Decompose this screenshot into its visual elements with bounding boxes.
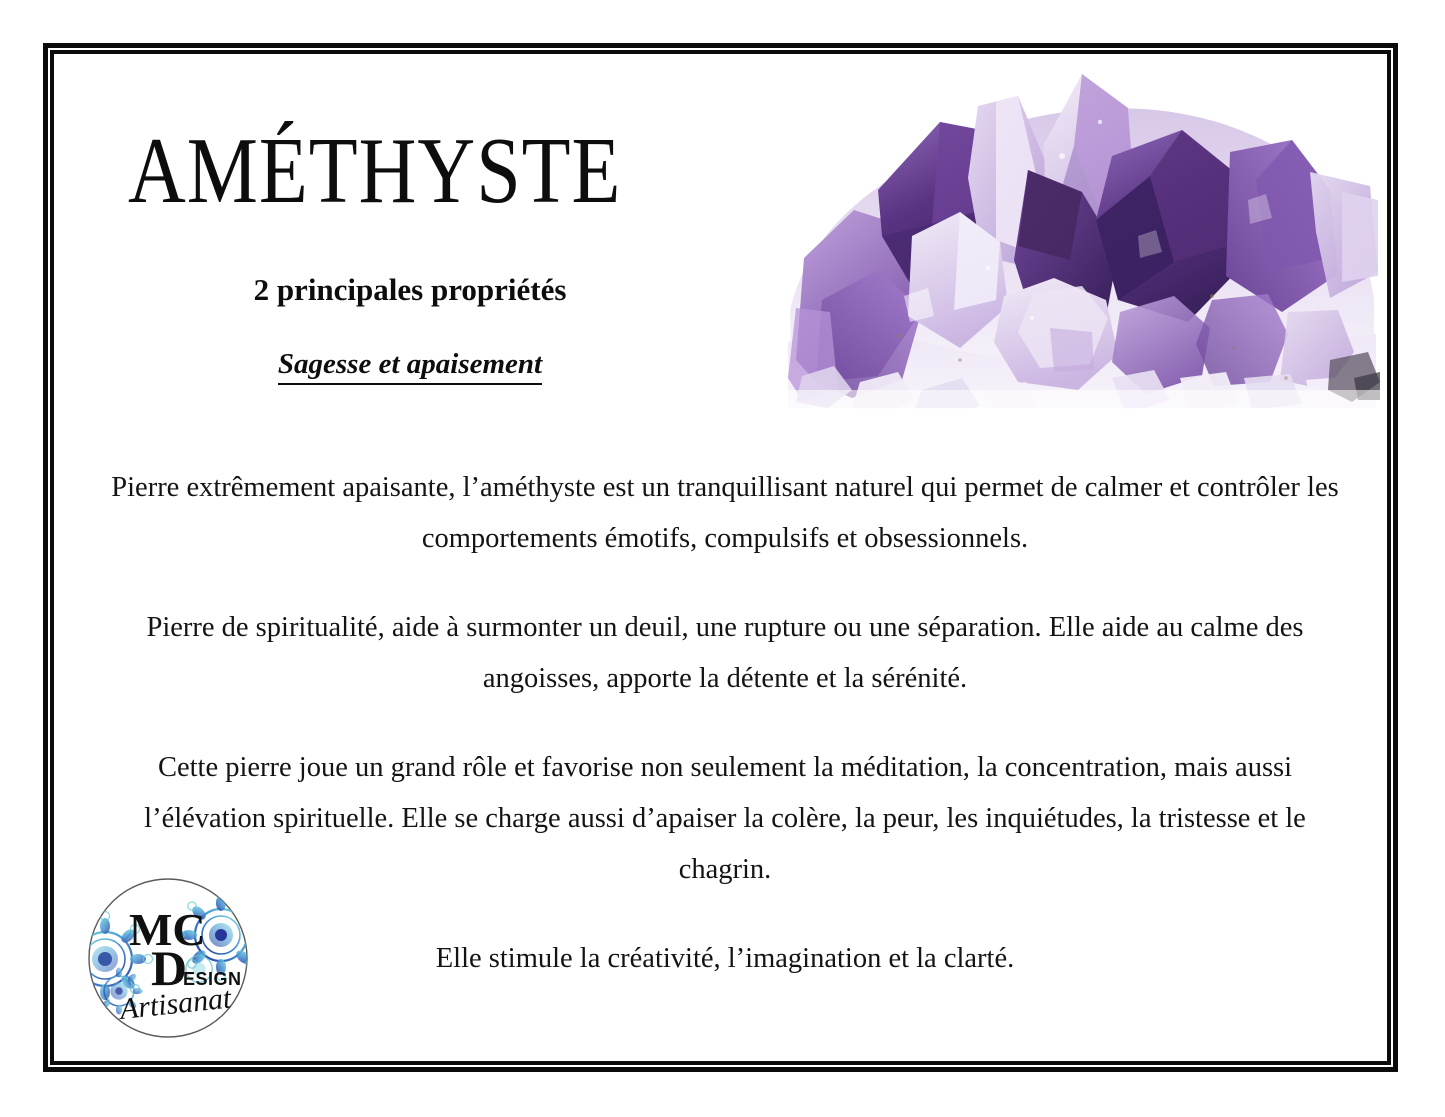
brand-logo: MC D ESIGN Artisanat — [83, 873, 253, 1043]
description-body: Pierre extrêmement apaisante, l’améthyst… — [110, 462, 1340, 984]
amethyst-info-card: AMÉTHYSTE 2 principales propriétés Sages… — [0, 0, 1445, 1117]
paragraph-1: Pierre extrêmement apaisante, l’améthyst… — [110, 462, 1340, 564]
properties-tagline: Sagesse et apaisement — [278, 348, 542, 385]
paragraph-3: Cette pierre joue un grand rôle et favor… — [110, 742, 1340, 895]
properties-subtitle: 2 principales propriétés — [60, 272, 760, 308]
paragraph-2: Pierre de spiritualité, aide à surmonter… — [110, 602, 1340, 704]
page-title: AMÉTHYSTE — [128, 124, 748, 218]
paragraph-4: Elle stimule la créativité, l’imaginatio… — [110, 933, 1340, 984]
tagline-container: Sagesse et apaisement — [60, 348, 760, 385]
amethyst-geode-cluster-photo — [782, 60, 1382, 420]
